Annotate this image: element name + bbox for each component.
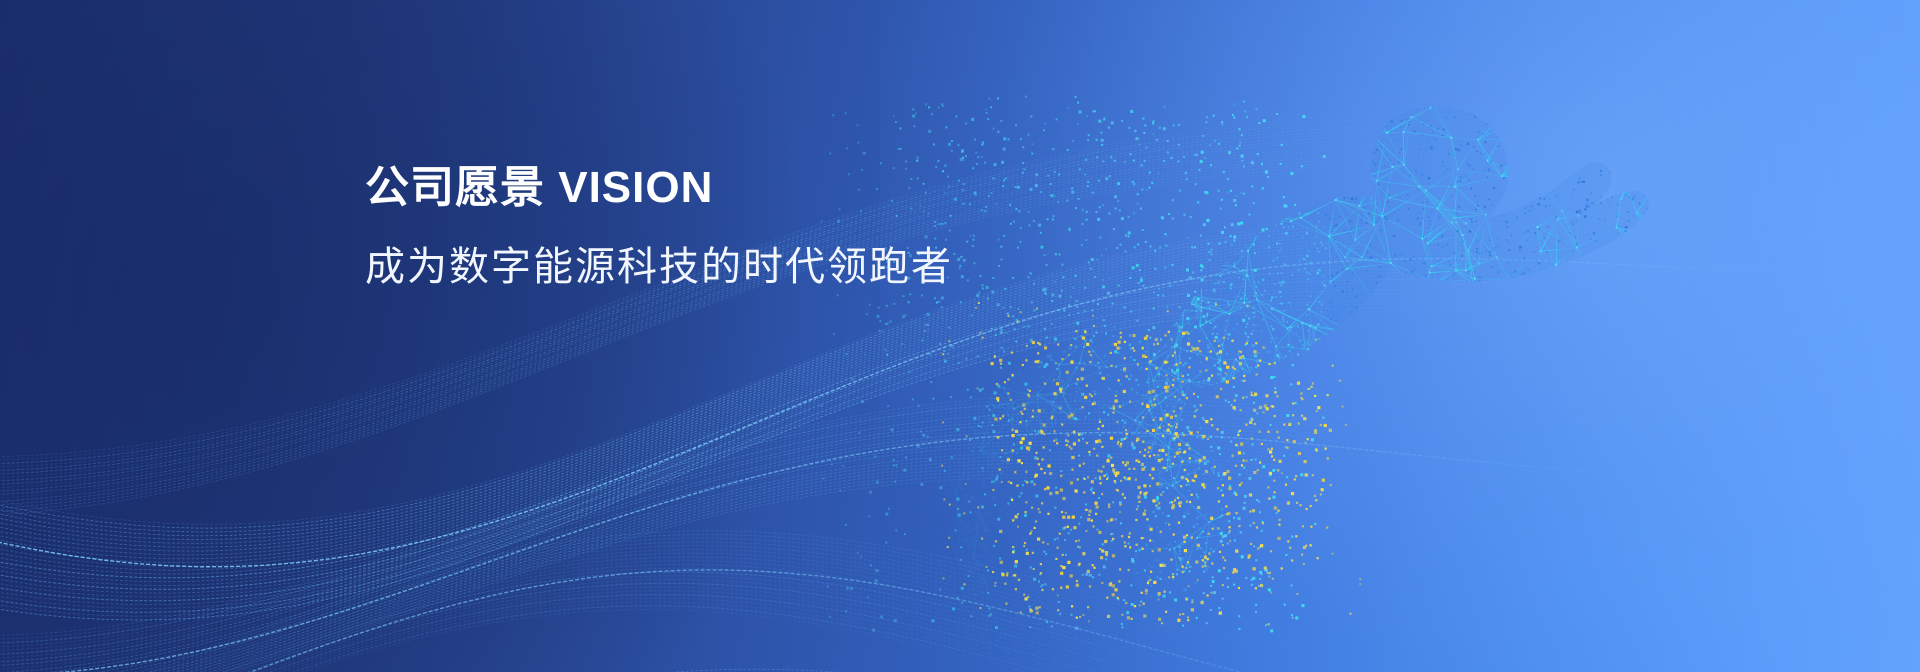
vision-banner: 公司愿景 VISION 成为数字能源科技的时代领跑者 [0, 0, 1920, 672]
left-dark-glow [0, 0, 800, 672]
banner-text-block: 公司愿景 VISION 成为数字能源科技的时代领跑者 [365, 160, 1125, 293]
right-light-glow [880, 0, 1920, 672]
page-subtitle: 成为数字能源科技的时代领跑者 [365, 241, 1125, 293]
page-title: 公司愿景 VISION [365, 160, 1125, 215]
wave-ribbons-graphic [0, 0, 1920, 672]
runner-figure-graphic [0, 0, 1920, 672]
